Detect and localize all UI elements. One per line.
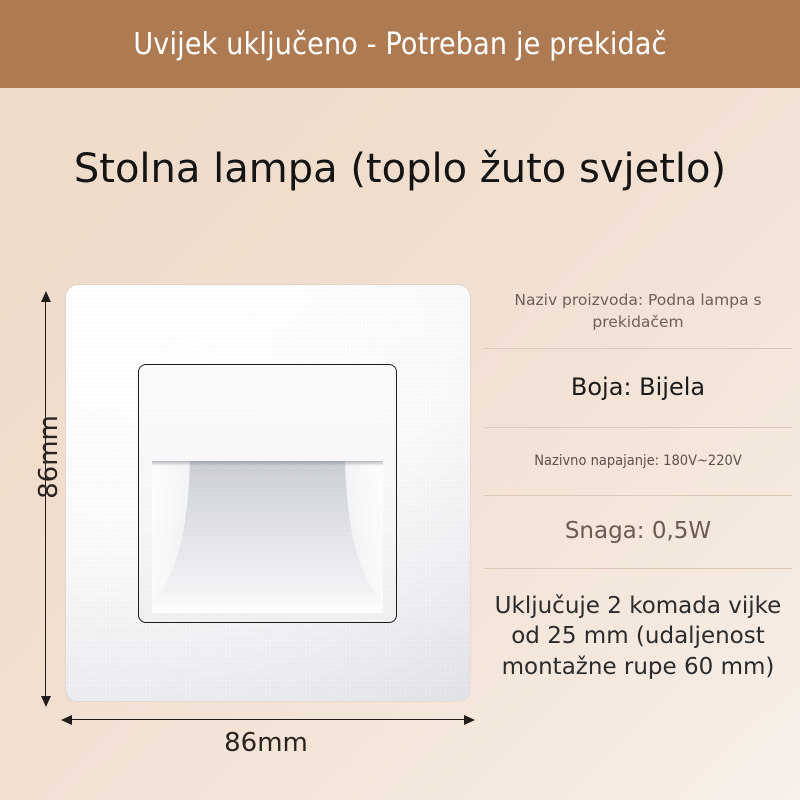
- width-arrow-right-icon: [464, 715, 475, 725]
- cavity-floor-highlight: [152, 591, 383, 613]
- promo-banner: Uvijek uključeno - Potreban je prekidač: [0, 0, 800, 88]
- height-arrow-bottom-icon: [41, 696, 51, 707]
- height-dimension-label: 86mm: [34, 402, 64, 512]
- height-arrow-top-icon: [41, 291, 51, 302]
- product-detail-image: Uvijek uključeno - Potreban je prekidač …: [0, 0, 800, 800]
- spec-product-name: Naziv proizvoda: Podna lampa s prekidače…: [484, 283, 792, 348]
- page-title: Stolna lampa (toplo žuto svjetlo): [0, 146, 800, 192]
- spec-voltage: Nazivno napajanje: 180V~220V: [484, 428, 792, 495]
- spec-included-accessories: Uključuje 2 komada vijke od 25 mm (udalj…: [484, 569, 792, 686]
- inner-bezel: [138, 364, 397, 623]
- spec-power: Snaga: 0,5W: [484, 496, 792, 568]
- cavity-top-lip-shadow: [152, 461, 383, 466]
- width-dimension-line: [66, 719, 470, 720]
- promo-banner-text: Uvijek uključeno - Potreban je prekidač: [133, 27, 666, 62]
- width-dimension-label: 86mm: [186, 728, 346, 758]
- spec-list: Naziv proizvoda: Podna lampa s prekidače…: [484, 283, 792, 686]
- light-cavity: [152, 461, 383, 613]
- width-arrow-left-icon: [61, 715, 72, 725]
- product-image: [66, 285, 470, 701]
- spec-color: Boja: Bijela: [484, 349, 792, 427]
